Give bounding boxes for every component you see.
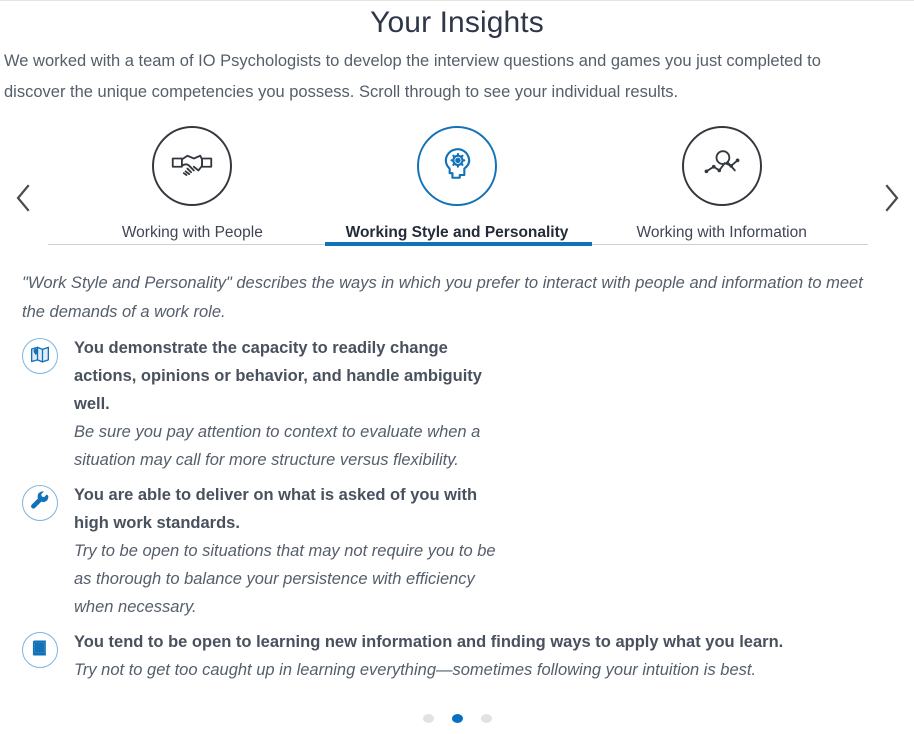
intro-paragraph: We worked with a team of IO Psychologist… <box>0 42 880 108</box>
insight-item: You demonstrate the capacity to readily … <box>22 334 892 474</box>
pagination-dots <box>0 714 914 723</box>
handshake-icon <box>170 142 214 191</box>
tab-icon-circle <box>417 126 497 206</box>
tab-active-indicator <box>325 242 592 246</box>
carousel-next-button[interactable] <box>876 180 906 216</box>
insight-icon-circle <box>22 338 58 374</box>
map-pin-icon <box>30 344 50 369</box>
competency-carousel: Working with People Working Style and Pe… <box>0 126 914 274</box>
insight-headline: You tend to be open to learning new info… <box>74 628 783 656</box>
tab-label: Working with Information <box>637 224 807 242</box>
insight-subtext: Try not to get too caught up in learning… <box>74 656 783 684</box>
tab-label: Working Style and Personality <box>346 224 569 242</box>
insight-subtext: Try to be open to situations that may no… <box>74 537 499 621</box>
tab-icon-circle <box>152 126 232 206</box>
insight-headline: You are able to deliver on what is asked… <box>74 481 499 537</box>
pagination-dot-1[interactable] <box>423 714 434 723</box>
insight-subtext: Be sure you pay attention to context to … <box>74 418 499 474</box>
insights-page: Your Insights We worked with a team of I… <box>0 0 914 734</box>
insight-text: You tend to be open to learning new info… <box>74 628 783 684</box>
tab-underline-rail <box>48 244 868 245</box>
pagination-dot-3[interactable] <box>481 714 492 723</box>
tab-label: Working with People <box>122 224 263 242</box>
tab-working-with-information[interactable]: Working with Information <box>589 126 854 242</box>
tab-list: Working with People Working Style and Pe… <box>0 126 914 242</box>
insights-content: "Work Style and Personality" describes t… <box>0 269 914 698</box>
tab-working-style-and-personality[interactable]: Working Style and Personality <box>325 126 590 242</box>
carousel-prev-button[interactable] <box>8 180 38 216</box>
wrench-icon <box>30 491 50 516</box>
insight-headline: You demonstrate the capacity to readily … <box>74 334 499 418</box>
insight-icon-circle <box>22 632 58 668</box>
tab-icon-circle <box>682 126 762 206</box>
insight-item: You tend to be open to learning new info… <box>22 628 892 684</box>
insight-text: You demonstrate the capacity to readily … <box>74 334 499 474</box>
page-title: Your Insights <box>0 1 914 42</box>
chevron-right-icon <box>883 183 900 213</box>
insight-item: You are able to deliver on what is asked… <box>22 481 892 621</box>
pagination-dot-2[interactable] <box>452 714 463 723</box>
tab-working-with-people[interactable]: Working with People <box>60 126 325 242</box>
book-icon <box>30 638 50 663</box>
chevron-left-icon <box>15 183 32 213</box>
insight-text: You are able to deliver on what is asked… <box>74 481 499 621</box>
magnifier-chart-icon <box>700 142 744 191</box>
head-gear-icon <box>435 142 479 191</box>
category-description: "Work Style and Personality" describes t… <box>22 269 867 327</box>
insight-icon-circle <box>22 485 58 521</box>
